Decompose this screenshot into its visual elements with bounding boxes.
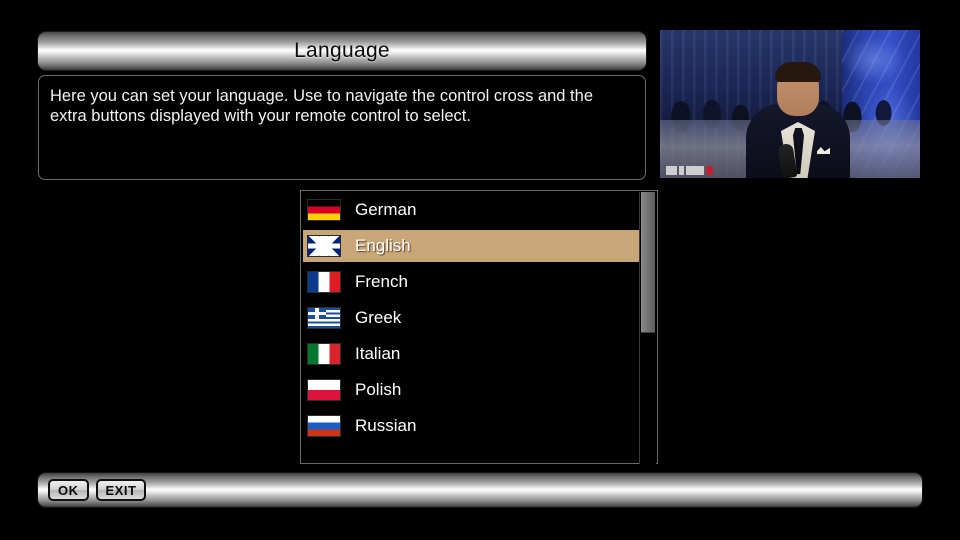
flag-russia-icon [307, 415, 341, 437]
list-item[interactable]: Polish [303, 374, 643, 406]
scrollbar-thumb[interactable] [641, 192, 655, 333]
language-label: French [355, 272, 408, 292]
language-label: German [355, 200, 416, 220]
flag-france-icon [307, 271, 341, 293]
flag-greece-icon [307, 307, 341, 329]
description-text: Here you can set your language. Use to n… [50, 86, 634, 126]
footer-bar: OK EXIT [38, 473, 922, 507]
list-item[interactable]: French [303, 266, 643, 298]
language-label: Italian [355, 344, 400, 364]
tv-settings-screen: Language Here you can set your language.… [0, 0, 960, 540]
language-label: Greek [355, 308, 401, 328]
list-item[interactable]: Russian [303, 410, 643, 442]
description-box: Here you can set your language. Use to n… [38, 75, 646, 180]
flag-italy-icon [307, 343, 341, 365]
title-bar: Language [38, 32, 646, 70]
flag-united-kingdom-icon [307, 235, 341, 257]
scrollbar-track[interactable] [639, 192, 656, 464]
list-item[interactable]: Greek [303, 302, 643, 334]
reporter-pocket-square [817, 147, 830, 154]
list-item[interactable]: Italian [303, 338, 643, 370]
news-channel-logo [666, 166, 713, 175]
list-item[interactable]: German [303, 194, 643, 226]
language-list: German English French Greek Italian Poli [301, 191, 643, 446]
language-list-panel: German English French Greek Italian Poli [300, 190, 658, 464]
language-label: Russian [355, 416, 416, 436]
exit-button[interactable]: EXIT [96, 479, 147, 501]
page-title: Language [294, 39, 390, 63]
flag-poland-icon [307, 379, 341, 401]
flag-germany-icon [307, 199, 341, 221]
list-item[interactable]: English [303, 230, 643, 262]
reporter-hair [775, 62, 821, 82]
language-label: Polish [355, 380, 401, 400]
ok-button[interactable]: OK [48, 479, 89, 501]
video-preview[interactable] [660, 30, 920, 178]
language-label: English [355, 236, 411, 256]
